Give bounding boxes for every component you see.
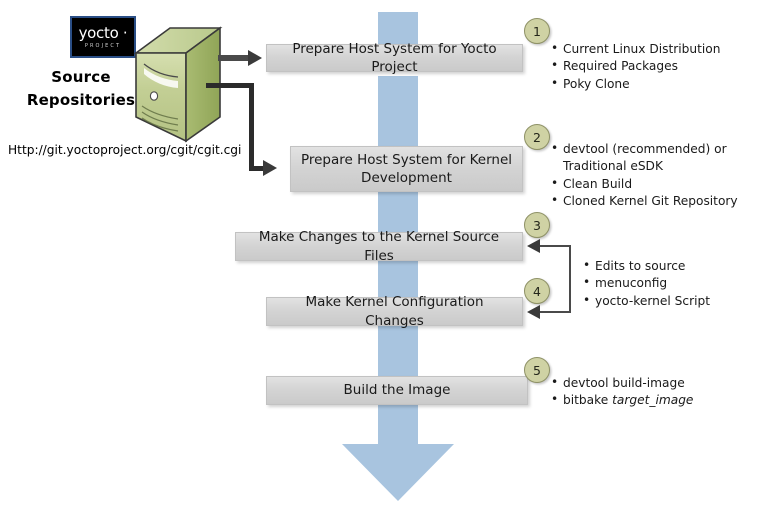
connector-bracket-vertical-34 xyxy=(569,245,571,313)
step-number-circle-2: 2 xyxy=(524,124,550,150)
connector-arrow-step4-icon xyxy=(527,305,540,319)
process-box-step-5[interactable]: Build the Image xyxy=(266,376,528,405)
workflow-diagram: yocto · PROJECT Source Repositories Http… xyxy=(0,0,769,517)
step-5-bullet-list: devtool build-image bitbake target_image xyxy=(551,375,693,410)
steps-3-4-bullet-list: Edits to source menuconfig yocto-kernel … xyxy=(583,258,710,310)
list-item-text: bitbake xyxy=(563,393,612,407)
process-box-step-1[interactable]: Prepare Host System for Yocto Project xyxy=(266,44,523,72)
step-number-circle-3: 3 xyxy=(524,212,550,238)
process-box-step-2-label-line1: Prepare Host System for Kernel xyxy=(301,151,512,169)
connector-server-to-step1 xyxy=(218,55,252,61)
list-item-emphasis: target_image xyxy=(612,393,693,407)
flow-arrow-down-icon xyxy=(342,444,454,501)
connector-bracket-top-34 xyxy=(540,245,570,247)
step-number-2: 2 xyxy=(533,130,541,145)
process-box-step-2[interactable]: Prepare Host System for Kernel Developme… xyxy=(290,146,523,192)
list-item: yocto-kernel Script xyxy=(583,293,710,310)
list-item: Clean Build xyxy=(551,176,738,193)
connector-server-to-step2-horizontal-top xyxy=(206,83,254,88)
flow-spine-segment-4 xyxy=(378,261,418,297)
process-box-step-5-label: Build the Image xyxy=(344,381,451,399)
list-item: Current Linux Distribution xyxy=(551,41,720,58)
list-item-text: devtool (recommended) or xyxy=(563,142,727,156)
yocto-logo-wordmark: yocto · xyxy=(79,26,128,41)
connector-arrow-step1-icon xyxy=(248,50,262,66)
list-item: Poky Clone xyxy=(551,76,720,93)
list-item: bitbake target_image xyxy=(551,392,693,409)
list-item: Required Packages xyxy=(551,58,720,75)
step-number-circle-4: 4 xyxy=(524,278,550,304)
list-item: devtool (recommended) orTraditional eSDK xyxy=(551,141,738,176)
connector-bracket-bottom-34 xyxy=(540,311,570,313)
step-number-circle-5: 5 xyxy=(524,357,550,383)
process-box-step-2-label-line2: Development xyxy=(361,169,452,187)
process-box-step-4-label: Make Kernel Configuration Changes xyxy=(275,293,514,329)
process-box-step-4[interactable]: Make Kernel Configuration Changes xyxy=(266,297,523,326)
list-item: Edits to source xyxy=(583,258,710,275)
connector-server-to-step2-vertical xyxy=(249,83,254,171)
flow-spine-segment-3 xyxy=(378,192,418,232)
yocto-project-logo: yocto · PROJECT xyxy=(70,16,136,58)
process-box-step-3[interactable]: Make Changes to the Kernel Source Files xyxy=(235,232,523,261)
source-label-line2: Repositories xyxy=(18,89,144,112)
connector-arrow-step3-icon xyxy=(527,239,540,253)
list-item: devtool build-image xyxy=(551,375,693,392)
source-repositories-label: Source Repositories xyxy=(18,66,144,111)
step-number-3: 3 xyxy=(533,218,541,233)
list-item: Cloned Kernel Git Repository xyxy=(551,193,738,210)
connector-arrow-step2-icon xyxy=(263,160,277,176)
process-box-step-1-label: Prepare Host System for Yocto Project xyxy=(275,40,514,76)
step-1-bullet-list: Current Linux Distribution Required Pack… xyxy=(551,41,720,93)
step-number-4: 4 xyxy=(533,284,541,299)
flow-spine-segment-2 xyxy=(378,76,418,146)
source-label-line1: Source xyxy=(18,66,144,89)
step-number-1: 1 xyxy=(533,24,541,39)
process-box-step-3-label: Make Changes to the Kernel Source Files xyxy=(244,228,514,264)
list-item: menuconfig xyxy=(583,275,710,292)
flow-spine-segment-6 xyxy=(378,404,418,444)
step-number-circle-1: 1 xyxy=(524,18,550,44)
list-item-continuation: Traditional eSDK xyxy=(563,158,738,175)
step-number-5: 5 xyxy=(533,363,541,378)
yocto-logo-subtext: PROJECT xyxy=(85,44,121,49)
step-2-bullet-list: devtool (recommended) orTraditional eSDK… xyxy=(551,141,738,210)
flow-spine-segment-5 xyxy=(378,326,418,376)
